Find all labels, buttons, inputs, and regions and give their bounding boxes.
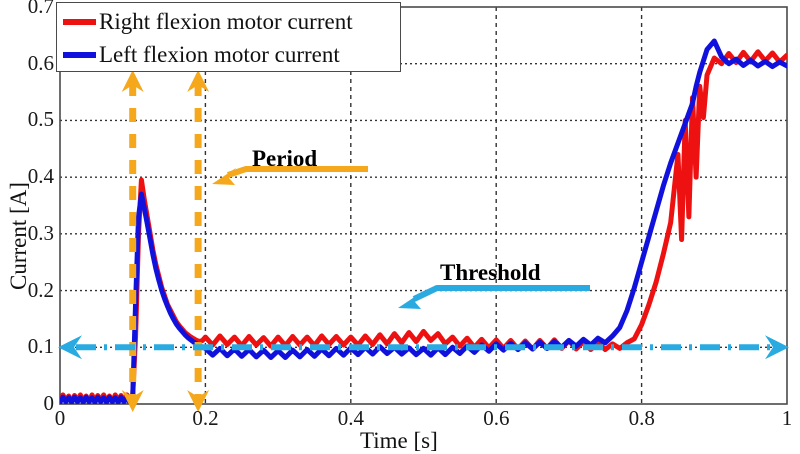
y-tick-7: 0.7 (14, 0, 54, 17)
x-tick-5: 1 (774, 408, 800, 429)
x-tick-1: 0.2 (192, 408, 218, 429)
y-tick-6: 0.6 (14, 53, 54, 74)
x-tick-4: 0.8 (629, 408, 655, 429)
legend-label-left: Left flexion motor current (99, 43, 340, 66)
annotation-arrows (212, 168, 590, 309)
x-tick-2: 0.4 (338, 408, 364, 429)
y-axis-title: Current [A] (6, 182, 32, 290)
x-axis-title: Time [s] (360, 428, 438, 454)
legend-label-right: Right flexion motor current (99, 10, 353, 33)
y-tick-5: 0.5 (14, 109, 54, 130)
x-tick-3: 0.6 (483, 408, 509, 429)
line-swatch-blue (63, 52, 96, 58)
figure-chart-motor-current: 00.10.20.30.40.50.60.7 00.20.40.60.81 Cu… (0, 0, 800, 454)
period-annotation-label: Period (252, 146, 317, 172)
x-tick-0: 0 (47, 408, 73, 429)
line-swatch-red (63, 19, 96, 25)
legend-entry-right: Right flexion motor current (63, 5, 400, 38)
threshold-annotation-label: Threshold (440, 260, 541, 286)
y-tick-1: 0.1 (14, 336, 54, 357)
chart-legend: Right flexion motor current Left flexion… (56, 2, 401, 72)
legend-entry-left: Left flexion motor current (63, 38, 400, 71)
